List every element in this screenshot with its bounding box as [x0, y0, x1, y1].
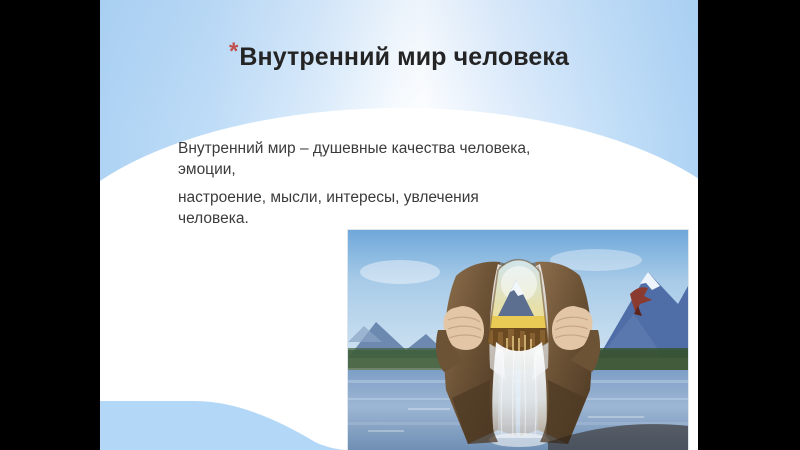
- asterisk-bullet-icon: *: [229, 38, 238, 65]
- body-line: Внутренний мир – душевные качества челов…: [178, 138, 648, 159]
- body-line: человека.: [178, 208, 648, 229]
- title-text: Внутренний мир человека: [239, 43, 569, 71]
- bottom-wave-decoration: [100, 384, 360, 450]
- inner-world-photo: [348, 230, 688, 450]
- body-paragraph: Внутренний мир – душевные качества челов…: [178, 138, 648, 180]
- body-line: эмоции,: [178, 159, 648, 180]
- body-paragraph: настроение, мысли, интересы, увлечения ч…: [178, 187, 648, 229]
- letterbox-right: [698, 0, 800, 450]
- body-line: настроение, мысли, интересы, увлечения: [178, 187, 648, 208]
- letterbox-left: [0, 0, 100, 450]
- slide-title: *Внутренний мир человека: [100, 40, 698, 72]
- presentation-slide: *Внутренний мир человека Внутренний мир …: [100, 0, 698, 450]
- slide-stage: *Внутренний мир человека Внутренний мир …: [0, 0, 800, 450]
- slide-body-text: Внутренний мир – душевные качества челов…: [178, 138, 648, 229]
